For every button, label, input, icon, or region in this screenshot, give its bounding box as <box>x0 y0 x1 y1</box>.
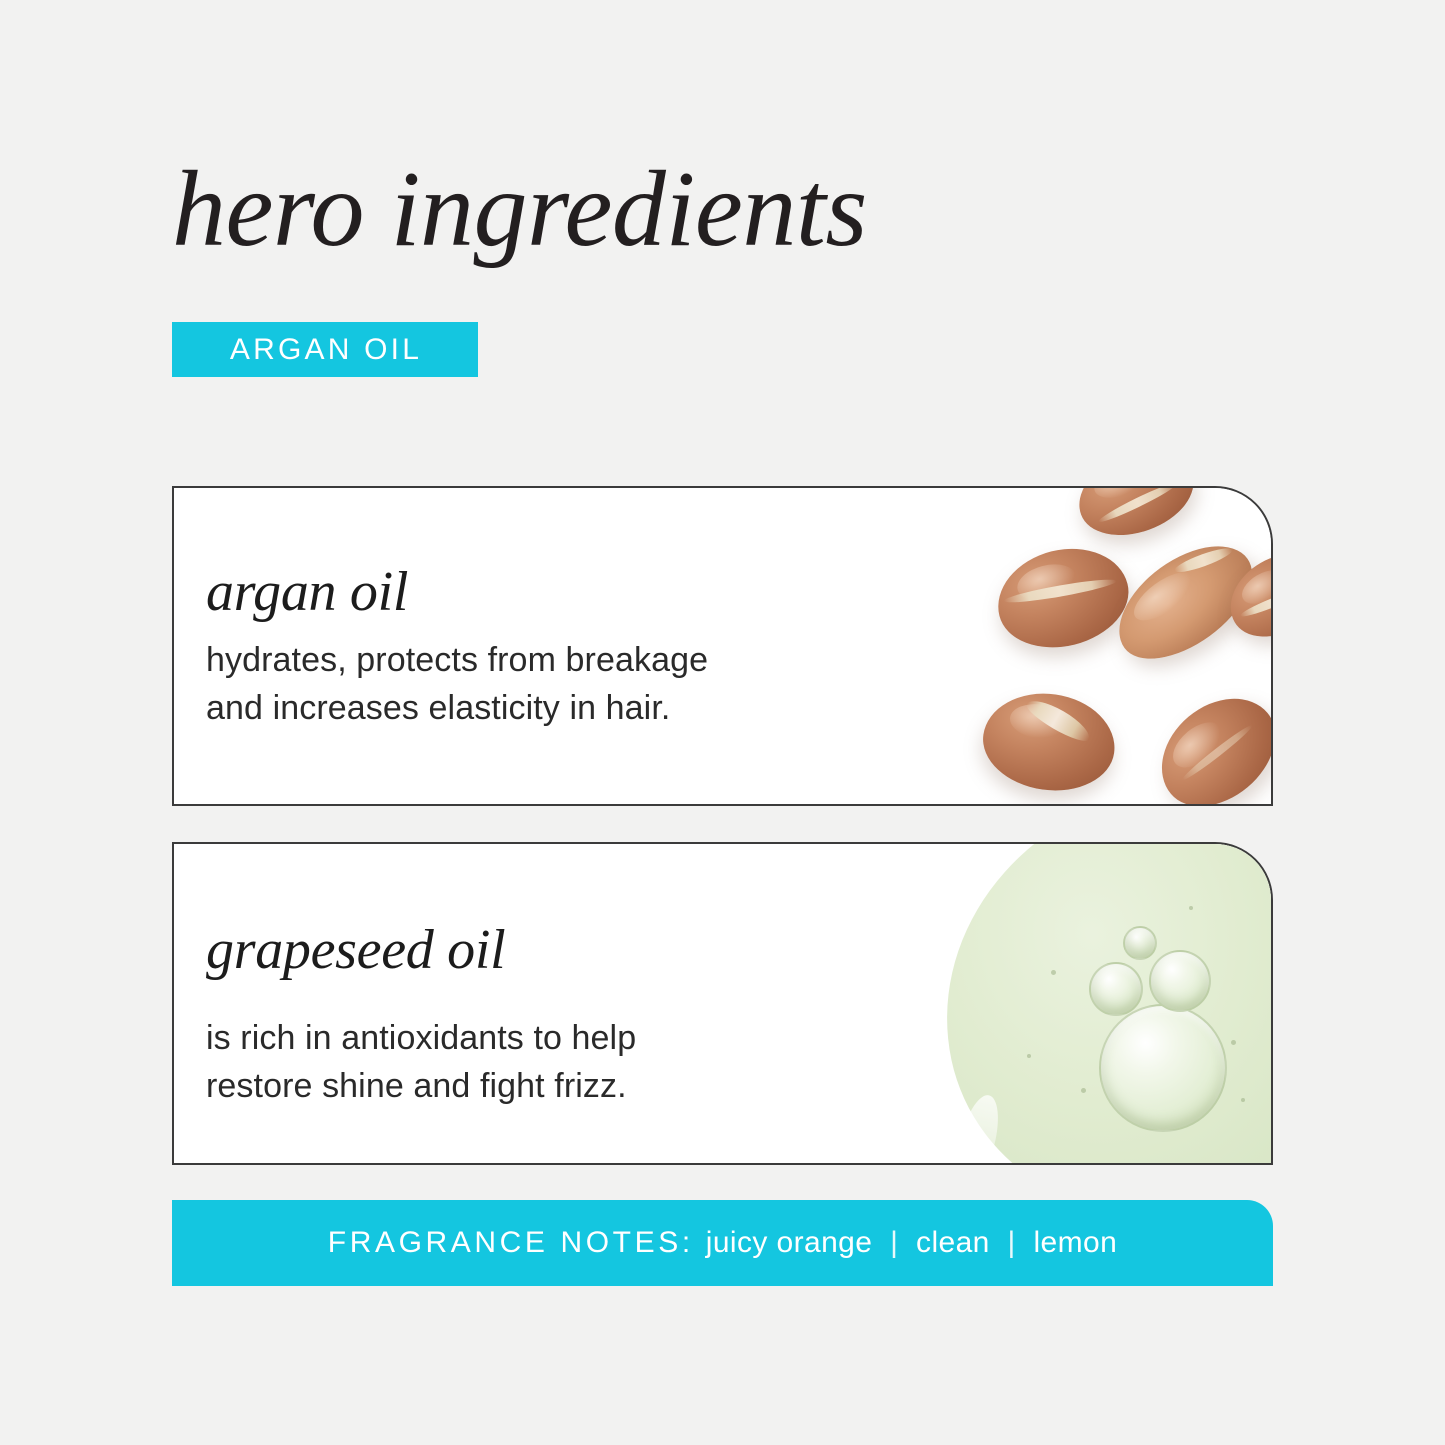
card-text-block: argan oil hydrates, protects from breaka… <box>206 564 708 733</box>
oil-bubble-icon <box>1123 926 1157 960</box>
ingredient-description: hydrates, protects from breakage and inc… <box>206 636 708 733</box>
oil-bubble-icon <box>1089 962 1143 1016</box>
ingredient-heading: argan oil <box>206 564 708 620</box>
grapeseed-oil-image <box>931 844 1271 1163</box>
note-separator: | <box>999 1226 1025 1260</box>
argan-oil-badge: ARGAN OIL <box>172 322 478 377</box>
argan-nut-icon <box>1067 488 1205 550</box>
argan-nut-icon <box>977 685 1121 798</box>
oil-speck <box>1027 1054 1031 1058</box>
oil-speck <box>1051 970 1056 975</box>
argan-nut-icon <box>987 535 1138 660</box>
description-line-1: is rich in antioxidants to help <box>206 1014 636 1062</box>
description-line-2: restore shine and fight frizz. <box>206 1062 636 1110</box>
ingredient-card-grapeseed-oil: grapeseed oil is rich in antioxidants to… <box>172 842 1273 1165</box>
page-title: hero ingredients <box>172 150 867 271</box>
description-line-1: hydrates, protects from breakage <box>206 636 708 684</box>
fragrance-notes-label: FRAGRANCE NOTES: <box>328 1226 694 1260</box>
note-separator: | <box>881 1226 907 1260</box>
oil-speck <box>1081 1088 1086 1093</box>
badge-label: ARGAN OIL <box>228 335 422 365</box>
oil-speck <box>1231 1040 1236 1045</box>
ingredient-heading: grapeseed oil <box>206 922 636 978</box>
oil-bubble-icon <box>1149 950 1211 1012</box>
fragrance-note: juicy orange <box>706 1226 873 1259</box>
ingredient-description: is rich in antioxidants to help restore … <box>206 1014 636 1111</box>
oil-speck <box>1189 906 1193 910</box>
description-line-2: and increases elasticity in hair. <box>206 684 708 732</box>
fragrance-note: clean <box>916 1226 990 1259</box>
fragrance-notes-content: FRAGRANCE NOTES: juicy orange | clean | … <box>328 1226 1117 1260</box>
fragrance-notes-bar: FRAGRANCE NOTES: juicy orange | clean | … <box>172 1200 1273 1286</box>
oil-speck <box>1241 1098 1245 1102</box>
ingredient-card-argan-oil: argan oil hydrates, protects from breaka… <box>172 486 1273 806</box>
fragrance-note: lemon <box>1033 1226 1117 1259</box>
infographic-page: hero ingredients ARGAN OIL argan oil hyd… <box>0 0 1445 1445</box>
argan-nut-icon <box>1140 676 1271 804</box>
argan-nuts-image <box>941 488 1271 804</box>
card-text-block: grapeseed oil is rich in antioxidants to… <box>206 922 636 1111</box>
fragrance-notes-list: juicy orange | clean | lemon <box>706 1226 1117 1260</box>
oil-bubble-icon <box>1099 1004 1227 1132</box>
